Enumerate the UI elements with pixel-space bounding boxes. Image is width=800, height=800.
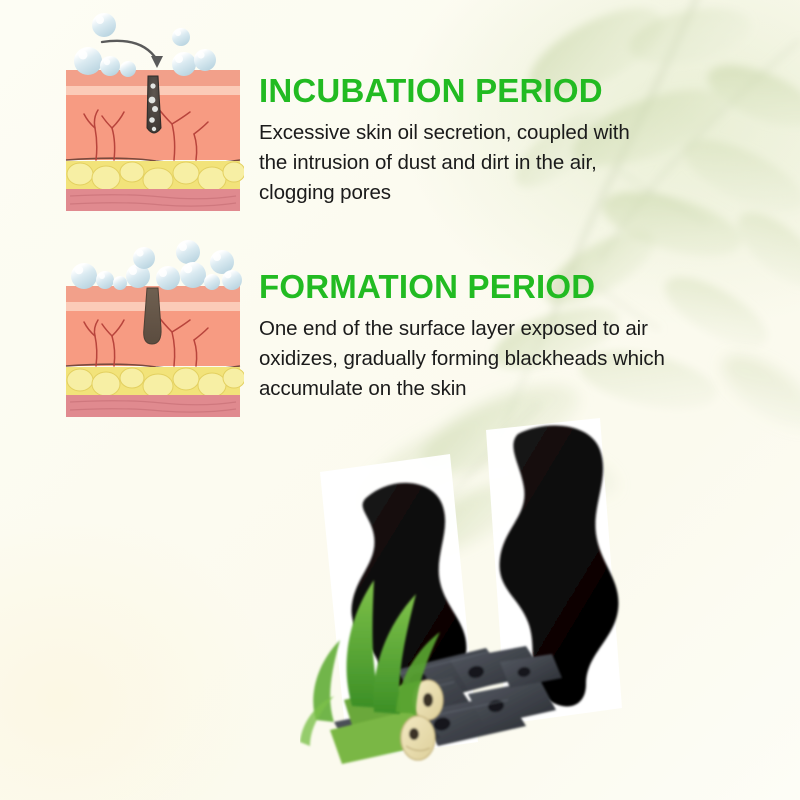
section-formation: FORMATION PERIOD One end of the surface … (259, 270, 707, 404)
section-incubation: INCUBATION PERIOD Excessive skin oil sec… (259, 74, 659, 208)
heading-formation-period: FORMATION PERIOD (259, 270, 707, 305)
product-photo-nose-strips-and-charcoal (300, 412, 800, 800)
body-formation-period: One end of the surface layer exposed to … (259, 314, 707, 404)
heading-incubation-period: INCUBATION PERIOD (259, 74, 659, 109)
illustration-formation-skin-diagram (62, 240, 244, 432)
body-incubation-period: Excessive skin oil secretion, coupled wi… (259, 118, 659, 208)
infographic-page: INCUBATION PERIOD Excessive skin oil sec… (0, 0, 800, 800)
illustration-incubation-skin-diagram (62, 8, 244, 226)
